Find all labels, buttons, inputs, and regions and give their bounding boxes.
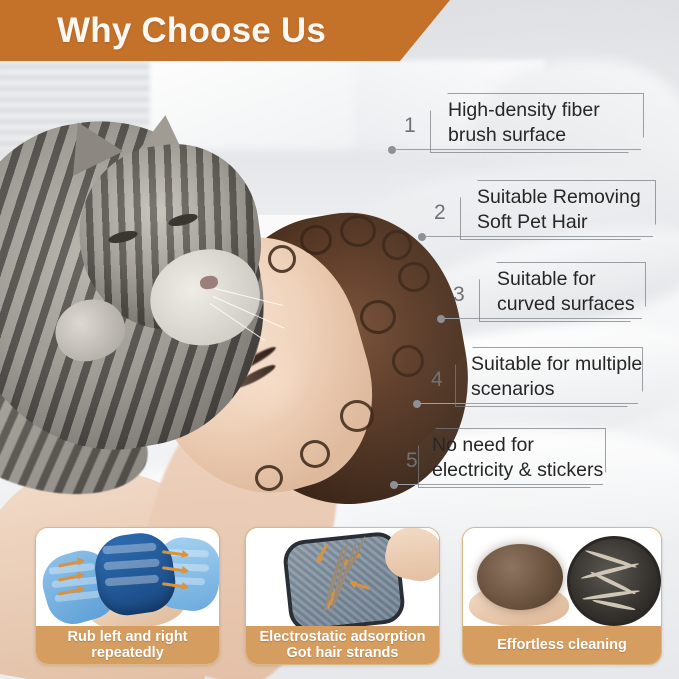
callout-dot: [418, 233, 426, 241]
callout-dot: [413, 400, 421, 408]
benefit-card-3[interactable]: Effortless cleaning: [462, 527, 662, 665]
benefit-card-2[interactable]: Electrostatic adsorption Got hair strand…: [245, 527, 440, 665]
benefit-card-1-caption: Rub left and right repeatedly: [67, 629, 187, 661]
benefit-card-3-image: [463, 528, 661, 626]
feature-callout-1: 1 High-density fiber brush surface: [388, 93, 648, 155]
callout-number: 2: [434, 202, 446, 223]
benefit-card-2-caption-bar: Electrostatic adsorption Got hair strand…: [246, 626, 439, 664]
benefit-card-1[interactable]: Rub left and right repeatedly: [35, 527, 220, 665]
collected-hair-clump: [477, 544, 563, 610]
callout-number: 1: [404, 115, 416, 136]
callout-number: 3: [453, 284, 465, 305]
benefit-card-3-caption: Effortless cleaning: [497, 637, 627, 653]
hair-bowl: [567, 536, 661, 626]
feature-callout-2: 2 Suitable Removing Soft Pet Hair: [418, 180, 660, 242]
callout-text: High-density fiber brush surface: [448, 98, 600, 148]
feature-callout-4: 4 Suitable for multiple scenarios: [413, 347, 645, 409]
feature-callout-3: 3 Suitable for curved surfaces: [437, 262, 649, 324]
callout-text: Suitable Removing Soft Pet Hair: [477, 185, 641, 235]
callout-text: Suitable for multiple scenarios: [471, 352, 642, 402]
callout-text: No need for electricity & stickers: [432, 433, 603, 483]
benefit-card-3-caption-bar: Effortless cleaning: [463, 626, 661, 664]
header-banner: Why Choose Us: [0, 0, 450, 61]
benefit-card-1-caption-bar: Rub left and right repeatedly: [36, 626, 219, 664]
benefit-card-1-image: [36, 528, 219, 626]
feature-callout-5: 5 No need for electricity & stickers: [390, 428, 610, 490]
callout-dot: [390, 481, 398, 489]
callout-text: Suitable for curved surfaces: [497, 267, 635, 317]
callout-dot: [388, 146, 396, 154]
callout-number: 4: [431, 369, 443, 390]
benefit-card-2-image: [246, 528, 439, 626]
callout-number: 5: [406, 450, 418, 471]
benefit-card-2-caption: Electrostatic adsorption Got hair strand…: [260, 629, 426, 661]
infographic-page: Why Choose Us 1 High-density fiber brush…: [0, 0, 679, 679]
callout-dot: [437, 315, 445, 323]
page-title: Why Choose Us: [0, 13, 326, 48]
